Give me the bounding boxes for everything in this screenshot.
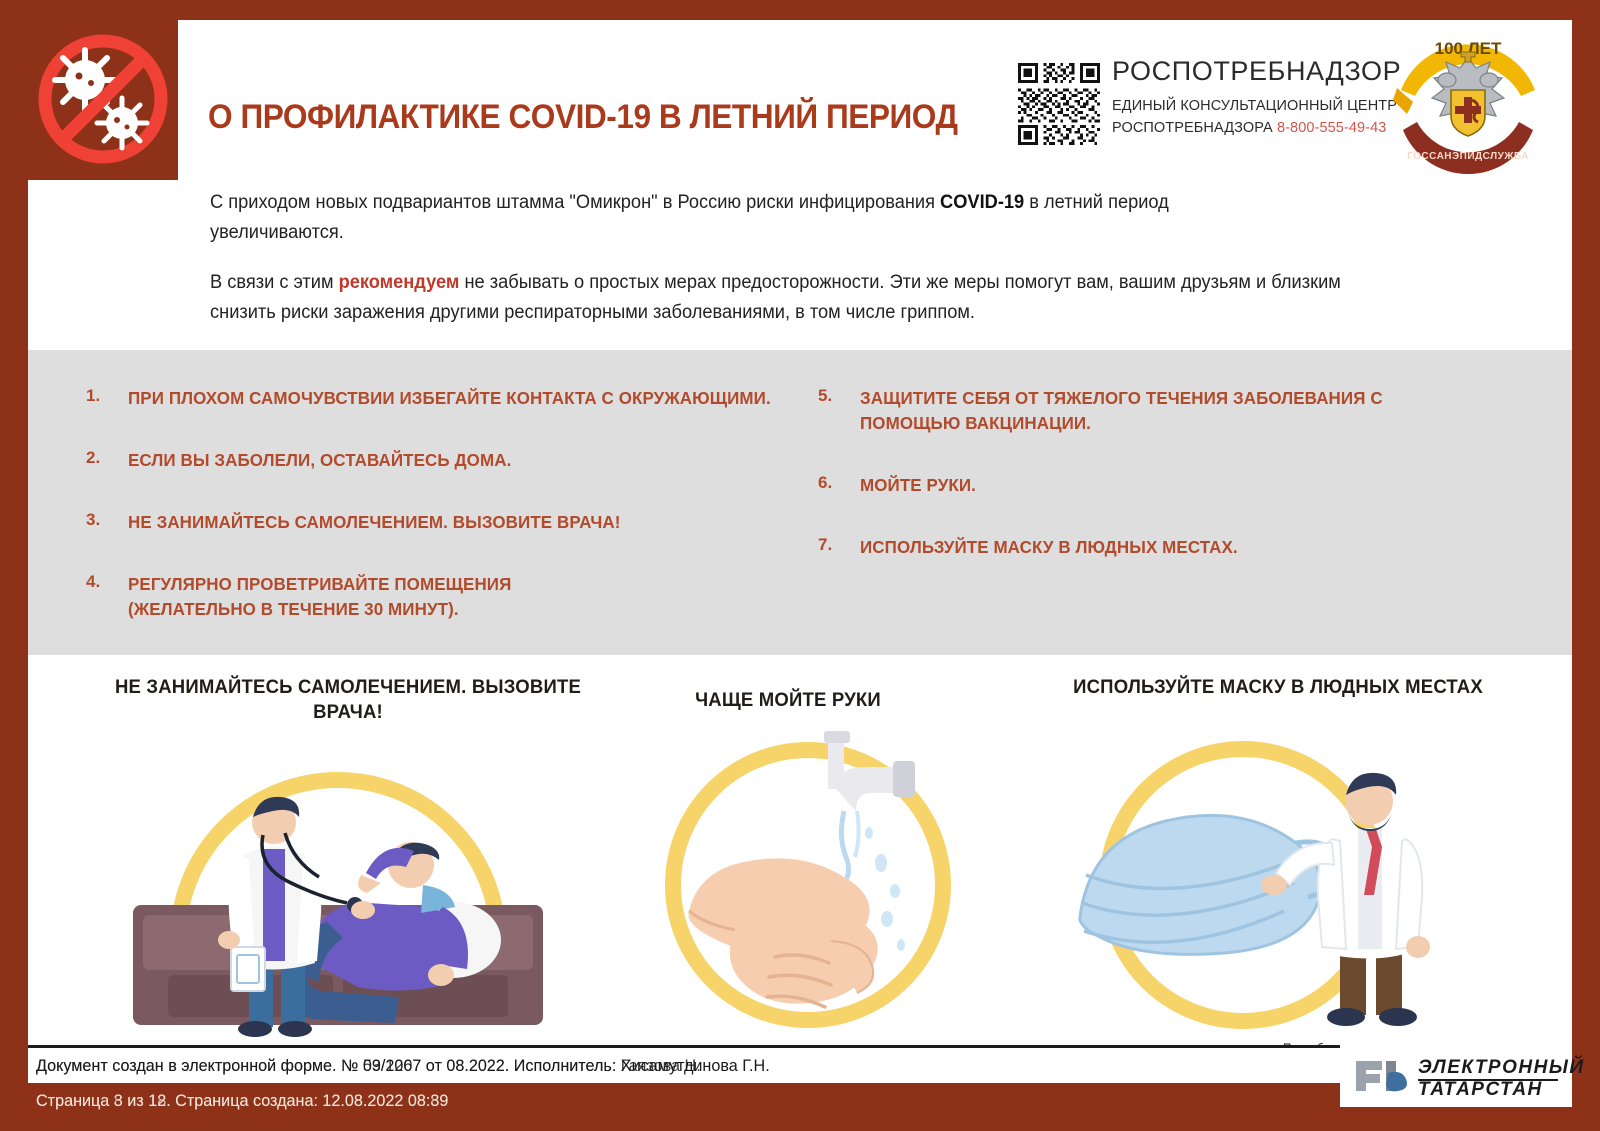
intro-band: С приходом новых подвариантов штамма "Ом…	[28, 180, 1572, 350]
rospotrebnadzor-center-line2-text: РОСПОТРЕБНАДЗОРА	[1112, 120, 1273, 136]
rospotrebnadzor-name: РОСПОТРЕБНАДЗОР	[1112, 56, 1401, 87]
recommendations-column-right: 5. ЗАЩИТИТЕ СЕБЯ ОТ ТЯЖЕЛОГО ТЕЧЕНИЯ ЗАБ…	[818, 350, 1538, 597]
rospotrebnadzor-center-line2: РОСПОТРЕБНАДЗОРА 8-800-555-49-43	[1112, 120, 1386, 136]
list-item-number: 3.	[86, 510, 116, 530]
no-virus-badge	[28, 20, 178, 180]
footer-page-line: Страница 8 из 18. Страница создана: 12.0…	[36, 1092, 448, 1111]
intro-p1-covid: COVID-19	[940, 192, 1024, 213]
rospotrebnadzor-emblem-icon: 100 ЛЕТ ГОССАНЭПИДСЛУЖБА	[1383, 18, 1553, 183]
footer-document-line-overlay: Документ создан в электронной форме. № 5…	[36, 1057, 701, 1076]
list-item-number: 5.	[818, 386, 848, 406]
page-title: О ПРОФИЛАКТИКЕ COVID-19 В ЛЕТНИЙ ПЕРИОД	[208, 98, 958, 137]
recommendations-column-left: 1. ПРИ ПЛОХОМ САМОЧУВСТВИИ ИЗБЕГАЙТЕ КОН…	[86, 350, 806, 659]
document-footer: Документ создан в электронной форме. № 5…	[0, 1045, 1600, 1131]
list-item-number: 6.	[818, 473, 848, 493]
list-item: 2. ЕСЛИ ВЫ ЗАБОЛЕЛИ, ОСТАВАЙТЕСЬ ДОМА.	[86, 448, 806, 473]
illustrations-band: НЕ ЗАНИМАЙТЕСЬ САМОЛЕЧЕНИЕМ. ВЫЗОВИТЕ ВР…	[28, 655, 1572, 1045]
hotline-phone: 8-800-555-49-43	[1277, 120, 1387, 136]
poster-root: О ПРОФИЛАКТИКЕ COVID-19 В ЛЕТНИЙ ПЕРИОД	[0, 0, 1600, 1131]
list-item-text: МОЙТЕ РУКИ.	[860, 473, 1518, 498]
doctor-examining-patient-illustration	[123, 725, 553, 1045]
illustration-caption-2: ЧАЩЕ МОЙТЕ РУКИ	[570, 688, 1007, 713]
washing-hands-illustration	[643, 715, 973, 1045]
list-item-text: НЕ ЗАНИМАЙТЕСЬ САМОЛЕЧЕНИЕМ. ВЫЗОВИТЕ ВР…	[128, 510, 786, 535]
rospotrebnadzor-center-line1: ЕДИНЫЙ КОНСУЛЬТАЦИОННЫЙ ЦЕНТР	[1112, 98, 1397, 114]
intro-p2-highlight: рекомендуем	[339, 272, 460, 293]
electronic-tatarstan-line2: ТАТАРСТАН	[1418, 1079, 1585, 1101]
intro-paragraph-2: В связи с этим рекомендуем не забывать о…	[210, 268, 1343, 328]
list-item: 1. ПРИ ПЛОХОМ САМОЧУВСТВИИ ИЗБЕГАЙТЕ КОН…	[86, 386, 806, 411]
intro-p2-a: В связи с этим	[210, 272, 339, 293]
list-item-text: ЕСЛИ ВЫ ЗАБОЛЕЛИ, ОСТАВАЙТЕСЬ ДОМА.	[128, 448, 786, 473]
list-item-text: ИСПОЛЬЗУЙТЕ МАСКУ В ЛЮДНЫХ МЕСТАХ.	[860, 535, 1518, 560]
qr-code-icon	[1018, 63, 1100, 145]
list-item: 3. НЕ ЗАНИМАЙТЕСЬ САМОЛЕЧЕНИЕМ. ВЫЗОВИТЕ…	[86, 510, 806, 535]
list-item-number: 1.	[86, 386, 116, 406]
list-item-number: 7.	[818, 535, 848, 555]
list-item: 6. МОЙТЕ РУКИ.	[818, 473, 1538, 498]
header-band: О ПРОФИЛАКТИКЕ COVID-19 В ЛЕТНИЙ ПЕРИОД	[28, 20, 1572, 180]
no-virus-icon	[38, 28, 168, 170]
recommendations-band: 1. ПРИ ПЛОХОМ САМОЧУВСТВИИ ИЗБЕГАЙТЕ КОН…	[28, 350, 1572, 655]
list-item-number: 2.	[86, 448, 116, 468]
electronic-tatarstan-logo-icon	[1354, 1059, 1412, 1093]
list-item: 5. ЗАЩИТИТЕ СЕБЯ ОТ ТЯЖЕЛОГО ТЕЧЕНИЯ ЗАБ…	[818, 386, 1498, 436]
illustration-caption-1: НЕ ЗАНИМАЙТЕСЬ САМОЛЕЧЕНИЕМ. ВЫЗОВИТЕ ВР…	[101, 675, 595, 725]
list-item-text: ПРИ ПЛОХОМ САМОЧУВСТВИИ ИЗБЕГАЙТЕ КОНТАК…	[128, 386, 786, 411]
rospotrebnadzor-block: РОСПОТРЕБНАДЗОР ЕДИНЫЙ КОНСУЛЬТАЦИОННЫЙ …	[1018, 60, 1378, 170]
intro-p1-a: С приходом новых подвариантов штамма "Ом…	[210, 192, 940, 213]
list-item: 7. ИСПОЛЬЗУЙТЕ МАСКУ В ЛЮДНЫХ МЕСТАХ.	[818, 535, 1538, 560]
list-item-number: 4.	[86, 572, 116, 592]
doctor-with-mask-illustration	[1028, 717, 1458, 1047]
illustration-caption-3: ИСПОЛЬЗУЙТЕ МАСКУ В ЛЮДНЫХ МЕСТАХ	[1050, 675, 1506, 700]
list-item-text: РЕГУЛЯРНО ПРОВЕТРИВАЙТЕ ПОМЕЩЕНИЯ (ЖЕЛАТ…	[128, 572, 630, 622]
electronic-tatarstan-underline	[1418, 1079, 1558, 1081]
electronic-tatarstan-logo: ЭЛЕКТРОННЫЙ ТАТАРСТАН	[1340, 1045, 1572, 1107]
electronic-tatarstan-line1: ЭЛЕКТРОННЫЙ	[1418, 1057, 1585, 1079]
list-item-text: ЗАЩИТИТЕ СЕБЯ ОТ ТЯЖЕЛОГО ТЕЧЕНИЯ ЗАБОЛЕ…	[860, 386, 1479, 436]
footer-document-line: Документ создан в электронной форме. № 5…	[36, 1057, 770, 1076]
list-item: 4. РЕГУЛЯРНО ПРОВЕТРИВАЙТЕ ПОМЕЩЕНИЯ (ЖЕ…	[86, 572, 646, 622]
svg-text:ГОССАНЭПИДСЛУЖБА: ГОССАНЭПИДСЛУЖБА	[1407, 151, 1529, 162]
footer-page-line-overlay: Страница 8 из 18. Страница создана: 12.0…	[36, 1092, 448, 1111]
intro-paragraph-1: С приходом новых подвариантов штамма "Ом…	[210, 188, 1285, 248]
